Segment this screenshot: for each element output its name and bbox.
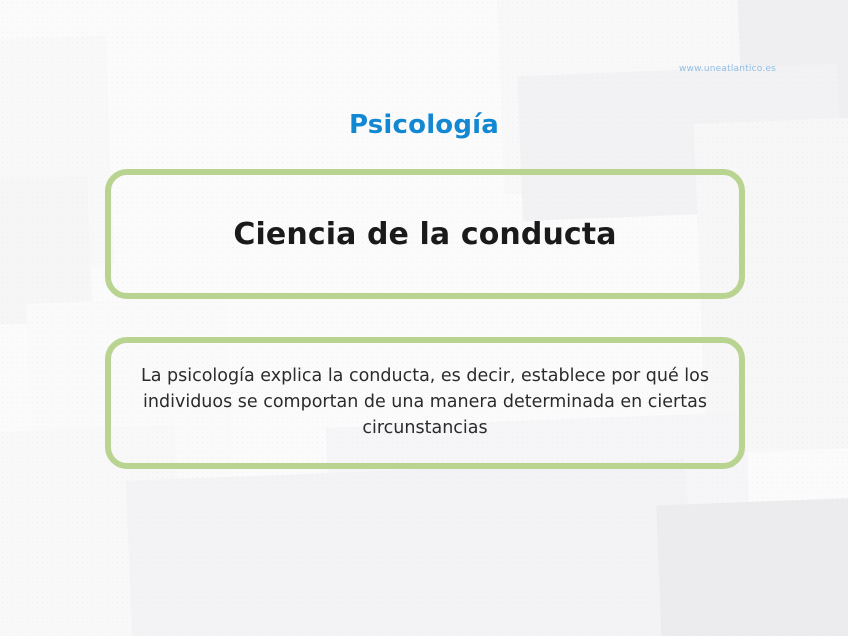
description-text: La psicología explica la conducta, es de… — [111, 364, 739, 442]
background-shape — [0, 176, 93, 328]
heading-text: Ciencia de la conducta — [233, 217, 616, 252]
watermark-url: www.uneatlantico.es — [679, 64, 776, 74]
heading-callout-box: Ciencia de la conducta — [105, 169, 745, 299]
background-decoration — [0, 0, 848, 636]
page-title: Psicología — [0, 110, 848, 140]
background-shape — [496, 0, 755, 195]
background-shape — [126, 459, 694, 636]
background-dot-texture — [0, 0, 848, 636]
background-shape — [0, 36, 114, 275]
background-shape — [656, 495, 848, 636]
description-callout-box: La psicología explica la conducta, es de… — [105, 337, 745, 469]
slide-canvas: www.uneatlantico.es Psicología Ciencia d… — [0, 0, 848, 636]
